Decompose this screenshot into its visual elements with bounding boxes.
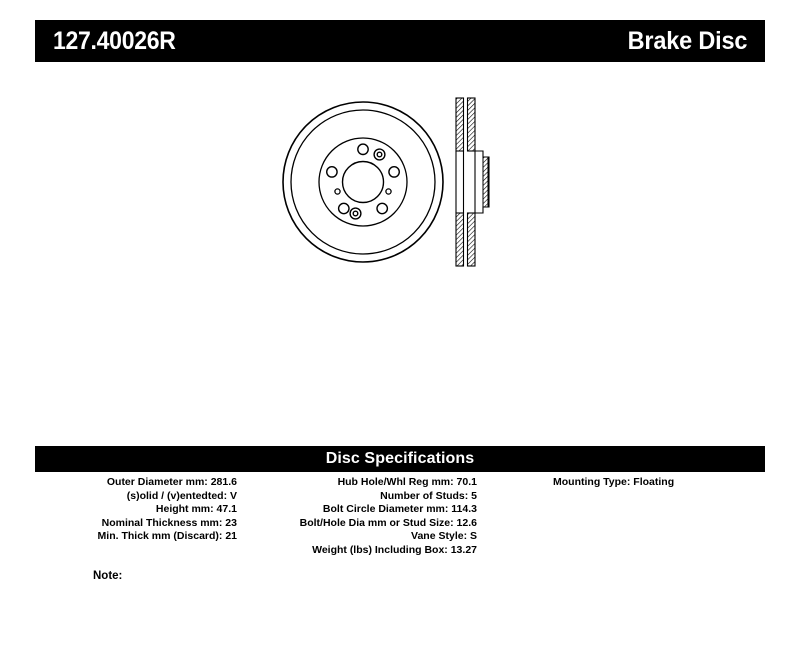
spec-row: Height mm: 47.1 — [35, 503, 270, 517]
spec-row: Hub Hole/Whl Reg mm: 70.1 — [270, 476, 505, 490]
spec-row: Vane Style: S — [270, 530, 505, 544]
technical-drawing — [280, 85, 530, 290]
note-block: Note: — [35, 570, 765, 582]
spec-column-middle: Hub Hole/Whl Reg mm: 70.1 Number of Stud… — [270, 476, 505, 558]
brake-rotor-face-view — [283, 102, 443, 262]
spec-row: Weight (lbs) Including Box: 13.27 — [270, 544, 505, 558]
brake-rotor-cross-section-view — [456, 98, 489, 266]
product-title: Brake Disc — [627, 29, 747, 54]
spec-row: Mounting Type: Floating — [505, 476, 765, 490]
spec-table: Outer Diameter mm: 281.6 (s)olid / (v)en… — [35, 476, 765, 558]
header-bar: 127.40026R Brake Disc — [35, 20, 765, 62]
spec-row: (s)olid / (v)entedted: V — [35, 490, 270, 504]
spec-column-left: Outer Diameter mm: 281.6 (s)olid / (v)en… — [35, 476, 270, 544]
spec-row: Number of Studs: 5 — [270, 490, 505, 504]
spec-row: Nominal Thickness mm: 23 — [35, 517, 270, 531]
spec-column-right: Mounting Type: Floating — [505, 476, 765, 490]
spec-row: Min. Thick mm (Discard): 21 — [35, 530, 270, 544]
note-label: Note: — [93, 570, 122, 582]
spec-row: Bolt/Hole Dia mm or Stud Size: 12.6 — [270, 517, 505, 531]
spec-row: Bolt Circle Diameter mm: 114.3 — [270, 503, 505, 517]
spec-section-header: Disc Specifications — [35, 446, 765, 472]
part-number: 127.40026R — [53, 29, 176, 54]
spec-section-title: Disc Specifications — [326, 451, 475, 467]
spec-row: Outer Diameter mm: 281.6 — [35, 476, 270, 490]
